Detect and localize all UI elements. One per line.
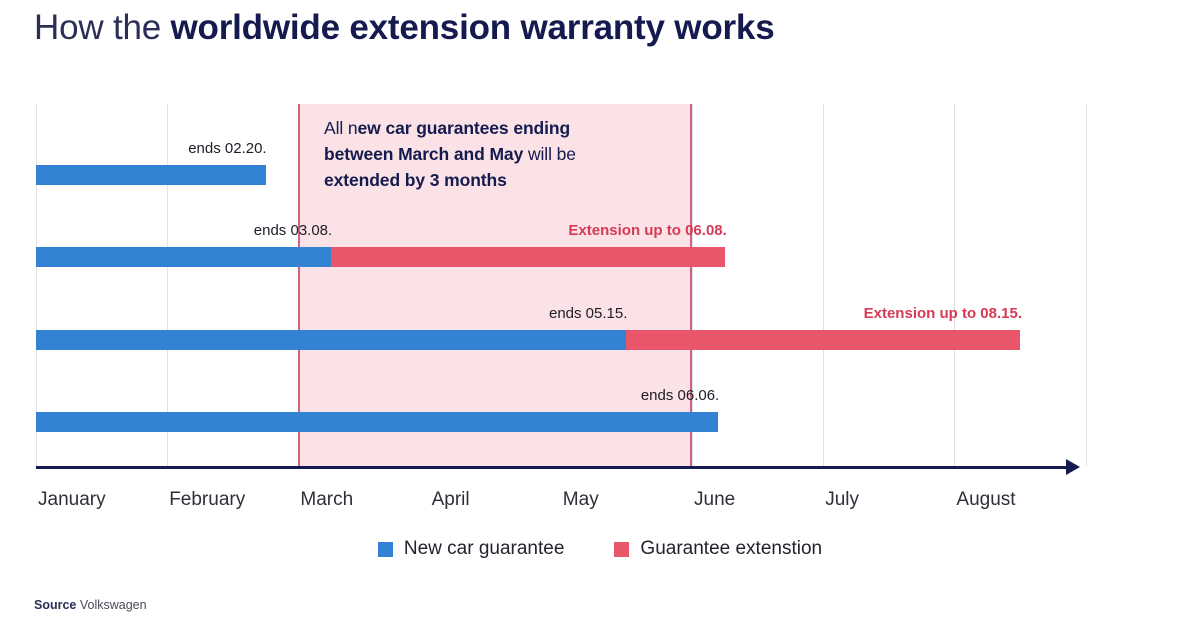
- annotation-text-1: All n: [324, 118, 358, 138]
- source-note: Source Volkswagen: [34, 598, 147, 612]
- bottom-edge-strip: [0, 626, 1200, 630]
- bar-new-car-guarantee: [36, 330, 626, 350]
- axis-tick-august: August: [956, 489, 1015, 511]
- axis-tick-march: March: [300, 489, 353, 511]
- axis-tick-april: April: [432, 489, 470, 511]
- legend-label: Guarantee extenstion: [640, 538, 822, 560]
- axis-tick-may: May: [563, 489, 599, 511]
- bar-label-guarantee-end: ends 03.08.: [254, 222, 332, 239]
- gridline: [954, 104, 955, 466]
- bar-label-extension-end: Extension up to 08.15.: [864, 305, 1022, 322]
- legend-label: New car guarantee: [404, 538, 565, 560]
- bar-label-guarantee-end: ends 05.15.: [549, 305, 627, 322]
- axis-tick-february: February: [169, 489, 245, 511]
- source-label: Source: [34, 598, 76, 612]
- bar-label-extension-end: Extension up to 06.08.: [568, 222, 726, 239]
- axis-tick-january: January: [38, 489, 106, 511]
- legend-swatch-icon: [378, 542, 393, 557]
- chart-plot-area: ends 02.20.ends 03.08.Extension up to 06…: [0, 0, 1200, 630]
- annotation-text-4: extended by 3 months: [324, 170, 507, 190]
- bar-new-car-guarantee: [36, 247, 331, 267]
- annotation-callout: All new car guarantees ending between Ma…: [324, 115, 634, 193]
- bar-label-guarantee-end: ends 02.20.: [188, 140, 266, 157]
- gridline: [1086, 104, 1087, 466]
- legend-item-1[interactable]: New car guarantee: [378, 538, 565, 560]
- bar-guarantee-extension: [626, 330, 1020, 350]
- annotation-text-3: will be: [523, 144, 576, 164]
- x-axis-line: [36, 466, 1075, 469]
- bar-label-guarantee-end: ends 06.06.: [641, 387, 719, 404]
- legend-item-2[interactable]: Guarantee extenstion: [614, 538, 822, 560]
- legend-swatch-icon: [614, 542, 629, 557]
- axis-tick-june: June: [694, 489, 735, 511]
- source-value: Volkswagen: [76, 598, 146, 612]
- x-axis-arrow-icon: [1066, 459, 1080, 475]
- bar-guarantee-extension: [331, 247, 725, 267]
- chart-legend: New car guaranteeGuarantee extenstion: [0, 538, 1200, 560]
- gridline: [823, 104, 824, 466]
- bar-new-car-guarantee: [36, 412, 718, 432]
- bar-new-car-guarantee: [36, 165, 266, 185]
- axis-tick-july: July: [825, 489, 859, 511]
